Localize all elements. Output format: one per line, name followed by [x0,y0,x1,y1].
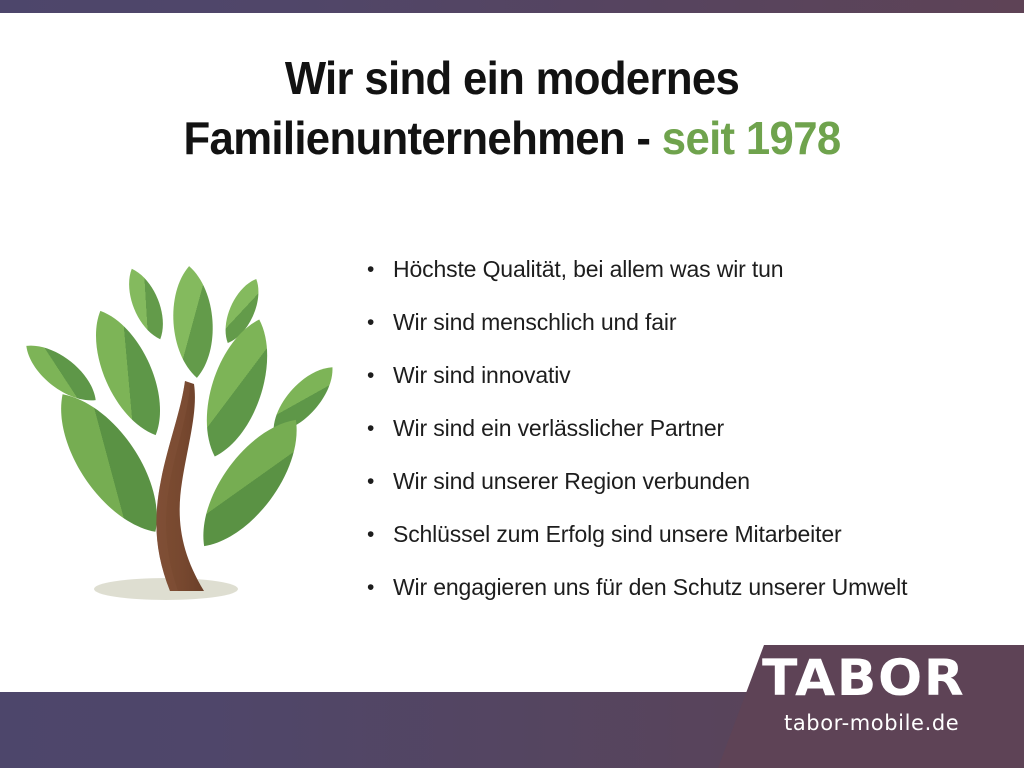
bullet-marker-icon: • [367,508,374,561]
tree-shadow [94,578,238,600]
list-item-label: Wir sind menschlich und fair [393,309,676,335]
list-item-label: Wir sind innovativ [393,362,571,388]
slide-canvas: Wir sind ein modernes Familienunternehme… [0,0,1024,768]
brand-tagline: tabor-mobile.de [784,711,1014,735]
leaf-top-center [170,265,217,379]
page-title: Wir sind ein modernes Familienunternehme… [26,48,999,168]
leaf-lower-right [183,404,317,561]
list-item-label: Wir sind ein verlässlicher Partner [393,415,724,441]
page-title-line-2: Familienunternehmen - seit 1978 [26,108,999,168]
bullet-marker-icon: • [367,296,374,349]
list-item: • Wir sind ein verlässlicher Partner [362,402,1022,455]
page-title-line-1: Wir sind ein modernes [26,48,999,108]
bullet-marker-icon: • [367,455,374,508]
list-item: • Wir sind innovativ [362,349,1022,402]
list-item-label: Wir engagieren uns für den Schutz unsere… [393,574,907,600]
tree-illustration-svg [18,248,358,610]
page-title-accent-year: seit 1978 [662,112,841,164]
list-item: • Höchste Qualität, bei allem was wir tu… [362,243,1022,296]
list-item: • Wir engagieren uns für den Schutz unse… [362,561,1022,614]
list-item-label: Höchste Qualität, bei allem was wir tun [393,256,783,282]
bullet-marker-icon: • [367,243,374,296]
list-item: • Wir sind unserer Region verbunden [362,455,1022,508]
top-accent-bar [0,0,1024,13]
value-list: • Höchste Qualität, bei allem was wir tu… [362,243,1022,614]
list-item-label: Schlüssel zum Erfolg sind unsere Mitarbe… [393,521,841,547]
page-title-line-2-prefix: Familienunternehmen - [184,112,662,164]
leaf-left-small [18,334,105,412]
bullet-marker-icon: • [367,561,374,614]
bullet-marker-icon: • [367,349,374,402]
list-item-label: Wir sind unserer Region verbunden [393,468,750,494]
brand-wordmark: TABOR [762,652,1024,704]
tree-illustration [18,248,358,610]
list-item: • Wir sind menschlich und fair [362,296,1022,349]
brand-logo: TABOR tabor-mobile.de [762,652,1014,735]
bullet-marker-icon: • [367,402,374,455]
list-item: • Schlüssel zum Erfolg sind unsere Mitar… [362,508,1022,561]
